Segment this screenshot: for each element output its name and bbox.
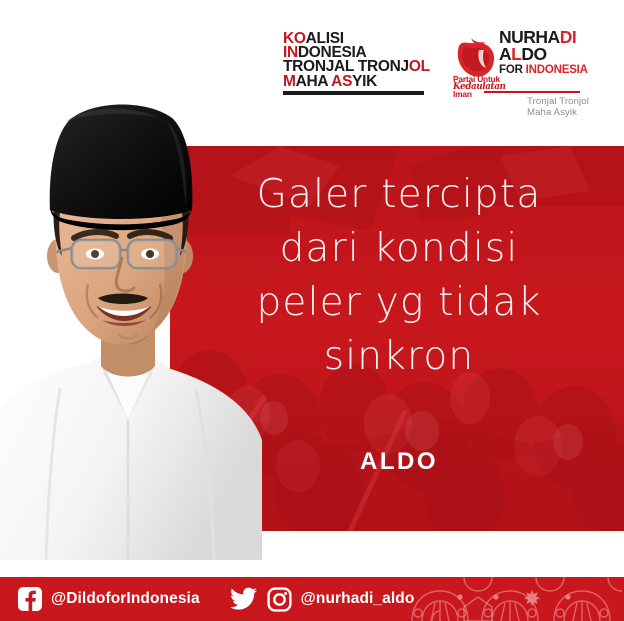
nurhadi-line-2: ALDO [499,46,588,64]
batik-ornament [404,577,624,621]
nurhadi-tagline-line-1: Tronjal Tronjol [527,96,613,107]
coalition-line-4-red2: AS [331,73,352,90]
coalition-line-4-red: M [283,73,296,90]
instagram-handle[interactable]: @nurhadi_aldo [301,590,415,608]
nurhadi-line-2-black2: DO [521,44,546,64]
nurhadi-aldo-logo: NURHADI ALDO FOR INDONESIA Tronjal Tronj… [453,28,613,108]
campaign-poster: KOALISI INDONESIA TRONJAL TRONJOL MAHA A… [0,0,624,621]
nurhadi-tagline: Tronjal Tronjol Maha Asyik [527,96,613,119]
nurhadi-line-2-red: L [511,44,521,64]
facebook-handle[interactable]: @DildoforIndonesia [51,590,200,608]
nurhadi-wordmark: NURHADI ALDO FOR INDONESIA [499,28,588,77]
coalition-line-4: MAHA ASYIK [283,75,431,89]
coalition-line-3-red: OL [409,58,430,75]
nurhadi-line-1-red: DI [560,27,577,47]
candidate-portrait [0,88,268,560]
coalition-logo: KOALISI INDONESIA TRONJAL TRONJOL MAHA A… [283,28,431,108]
nurhadi-line-3-black: FOR [499,64,526,76]
coalition-line-4-black: AHA [296,73,332,90]
party-slogan-line-3: Iman [453,89,472,99]
nurhadi-line-2-black: A [499,44,511,64]
logo-row: KOALISI INDONESIA TRONJAL TRONJOL MAHA A… [283,28,613,108]
coalition-line-4-black2: YIK [352,73,377,90]
social-handles: @DildoforIndonesia @nurhadi_aldo [18,577,414,621]
nurhadi-tagline-line-2: Maha Asyik [527,107,613,118]
instagram-icon[interactable] [267,587,292,612]
twitter-icon[interactable] [230,587,258,611]
facebook-icon[interactable] [18,587,42,611]
coalition-underline [283,91,424,95]
party-slogan: Partai Untuk Kedaulatan Iman [453,75,525,99]
social-bar: @DildoforIndonesia @nurhadi_aldo [0,577,624,621]
nurhadi-line-3-red: INDONESIA [526,64,588,76]
